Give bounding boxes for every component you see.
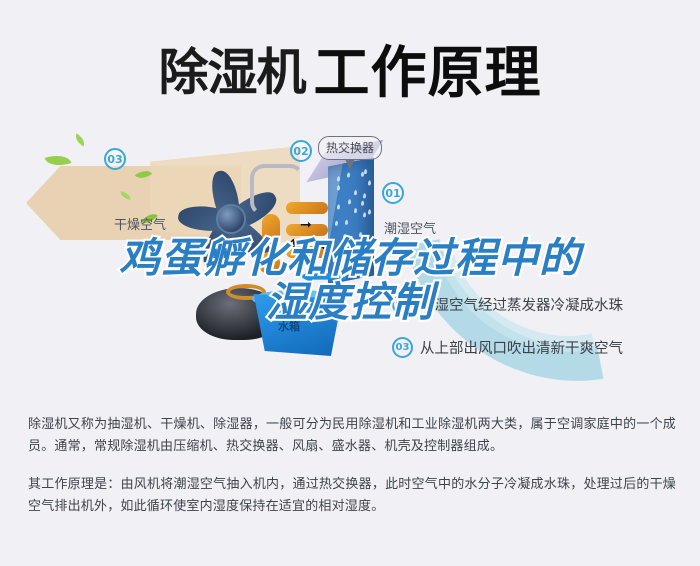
step-badge-02: 02 (290, 140, 312, 162)
flow-arrow-right-icon: ➞ (300, 218, 312, 232)
infographic-page: 除湿机工作原理 ➞ ↑ ↓ (0, 0, 700, 566)
condensation-droplet (354, 208, 357, 214)
condensation-droplet (368, 180, 371, 186)
condensation-droplet (347, 172, 350, 178)
condensation-droplet (364, 255, 367, 261)
step-badge-03: 03 (104, 148, 126, 170)
condensation-droplet (336, 268, 339, 274)
compressor-coil-assembly: ➞ ↑ ↓ (248, 180, 334, 284)
fan-hub (216, 204, 246, 234)
heat-exchanger-fins (328, 158, 374, 285)
process-step-list: 02 潮湿空气经过蒸发器冷凝成水珠 03 从上部出风口吹出清新干爽空气 (392, 294, 698, 380)
condensation-droplet (335, 221, 338, 227)
condensation-droplet (352, 251, 355, 257)
condensation-droplet (361, 172, 364, 178)
body-paragraph-2: 其工作原理是：由风机将潮湿空气抽入机内，通过热交换器，此时空气中的水分子冷凝成水… (28, 474, 676, 518)
condensation-droplet (337, 176, 340, 182)
flow-arrow-up-icon: ↑ (288, 238, 300, 252)
dehumidifier-diagram: ➞ ↑ ↓ 水箱 03 02 01 干燥空气 潮湿空气 热交换器 02 潮湿空气… (0, 118, 700, 400)
coil-segment (262, 214, 280, 244)
water-tank-label: 水箱 (278, 318, 300, 334)
process-step: 03 从上部出风口吹出清新干爽空气 (392, 337, 698, 358)
page-title-part-1: 除湿机 (159, 44, 306, 102)
condensation-droplet (361, 201, 364, 207)
condensation-droplet (348, 199, 351, 205)
process-step: 02 潮湿空气经过蒸发器冷凝成水珠 (392, 294, 698, 315)
condensation-droplet (363, 213, 366, 219)
leaf-icon (73, 134, 87, 147)
condensation-droplet (354, 190, 357, 196)
heat-exchanger-callout: 热交换器 (318, 136, 382, 160)
article-body: 除湿机又称为抽湿机、干燥机、除湿器，一般可分为民用除湿机和工业除湿机两大类，属于… (28, 414, 676, 518)
condensation-droplet (358, 246, 361, 252)
humid-air-label: 潮湿空气 (384, 218, 436, 237)
condensation-droplet (363, 193, 366, 199)
page-title: 除湿机工作原理 (0, 28, 700, 109)
step-text: 从上部出风口吹出清新干爽空气 (420, 337, 623, 358)
condensation-droplet (361, 234, 364, 240)
step-text: 潮湿空气经过蒸发器冷凝成水珠 (420, 294, 623, 315)
condensation-droplet (343, 234, 346, 240)
condensation-droplet (337, 185, 340, 191)
condensation-droplet (352, 260, 355, 266)
coil-segment (258, 252, 280, 274)
step-badge-01: 01 (382, 182, 404, 204)
coil-segment (286, 202, 328, 214)
body-paragraph-1: 除湿机又称为抽湿机、干燥机、除湿器，一般可分为民用除湿机和工业除湿机两大类，属于… (28, 414, 676, 458)
condensation-droplet (337, 204, 340, 210)
dry-air-label: 干燥空气 (114, 214, 166, 233)
step-badge: 02 (392, 294, 413, 315)
condensation-droplet (368, 209, 371, 215)
step-badge: 03 (392, 337, 413, 358)
condensation-droplet (347, 262, 350, 268)
page-title-part-2: 工作原理 (314, 41, 542, 106)
condensation-droplet (345, 220, 348, 226)
